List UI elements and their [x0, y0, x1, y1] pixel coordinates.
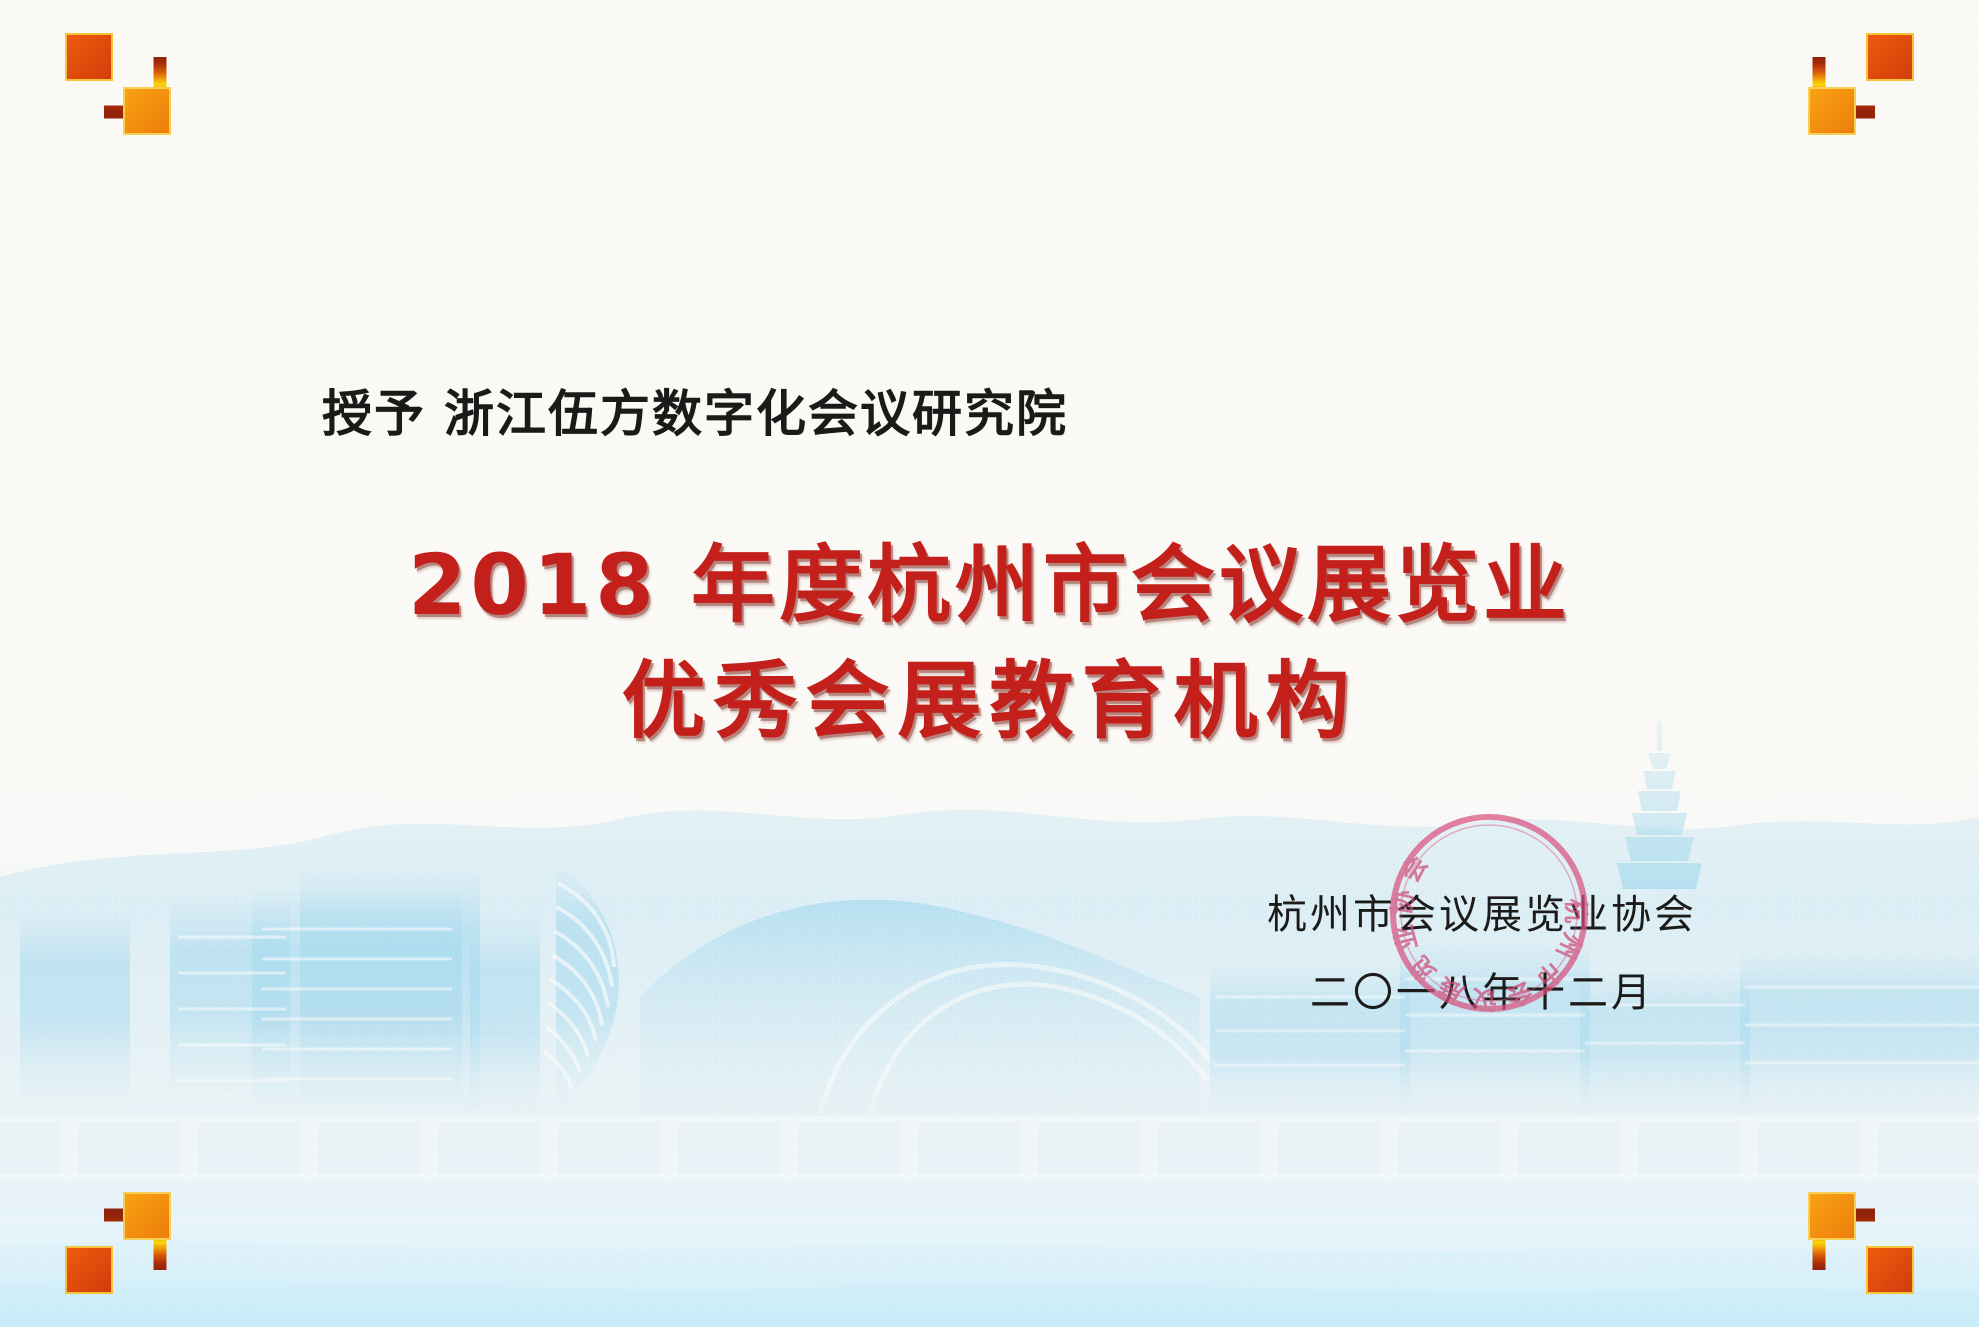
issue-date: 二〇一八年十二月	[1267, 960, 1697, 1018]
awardee-prefix: 授予	[322, 385, 426, 443]
certificate-canvas: 授予浙江伍方数字化会议研究院 2018 年度杭州市会议展览业 优秀会展教育机构 …	[0, 0, 1979, 1327]
award-title-line-2: 优秀会展教育机构	[0, 644, 1979, 760]
awardee-name: 浙江伍方数字化会议研究院	[444, 385, 1068, 443]
awardee-line: 授予浙江伍方数字化会议研究院	[322, 374, 1068, 446]
award-title-line-1: 2018 年度杭州市会议展览业	[0, 528, 1979, 644]
award-title: 2018 年度杭州市会议展览业 优秀会展教育机构	[0, 528, 1979, 760]
signature-block: 杭州市会议展览业协会 二〇一八年十二月	[1267, 882, 1697, 1018]
certificate-content: 授予浙江伍方数字化会议研究院 2018 年度杭州市会议展览业 优秀会展教育机构 …	[0, 0, 1979, 1327]
issuing-organization: 杭州市会议展览业协会	[1267, 882, 1697, 940]
